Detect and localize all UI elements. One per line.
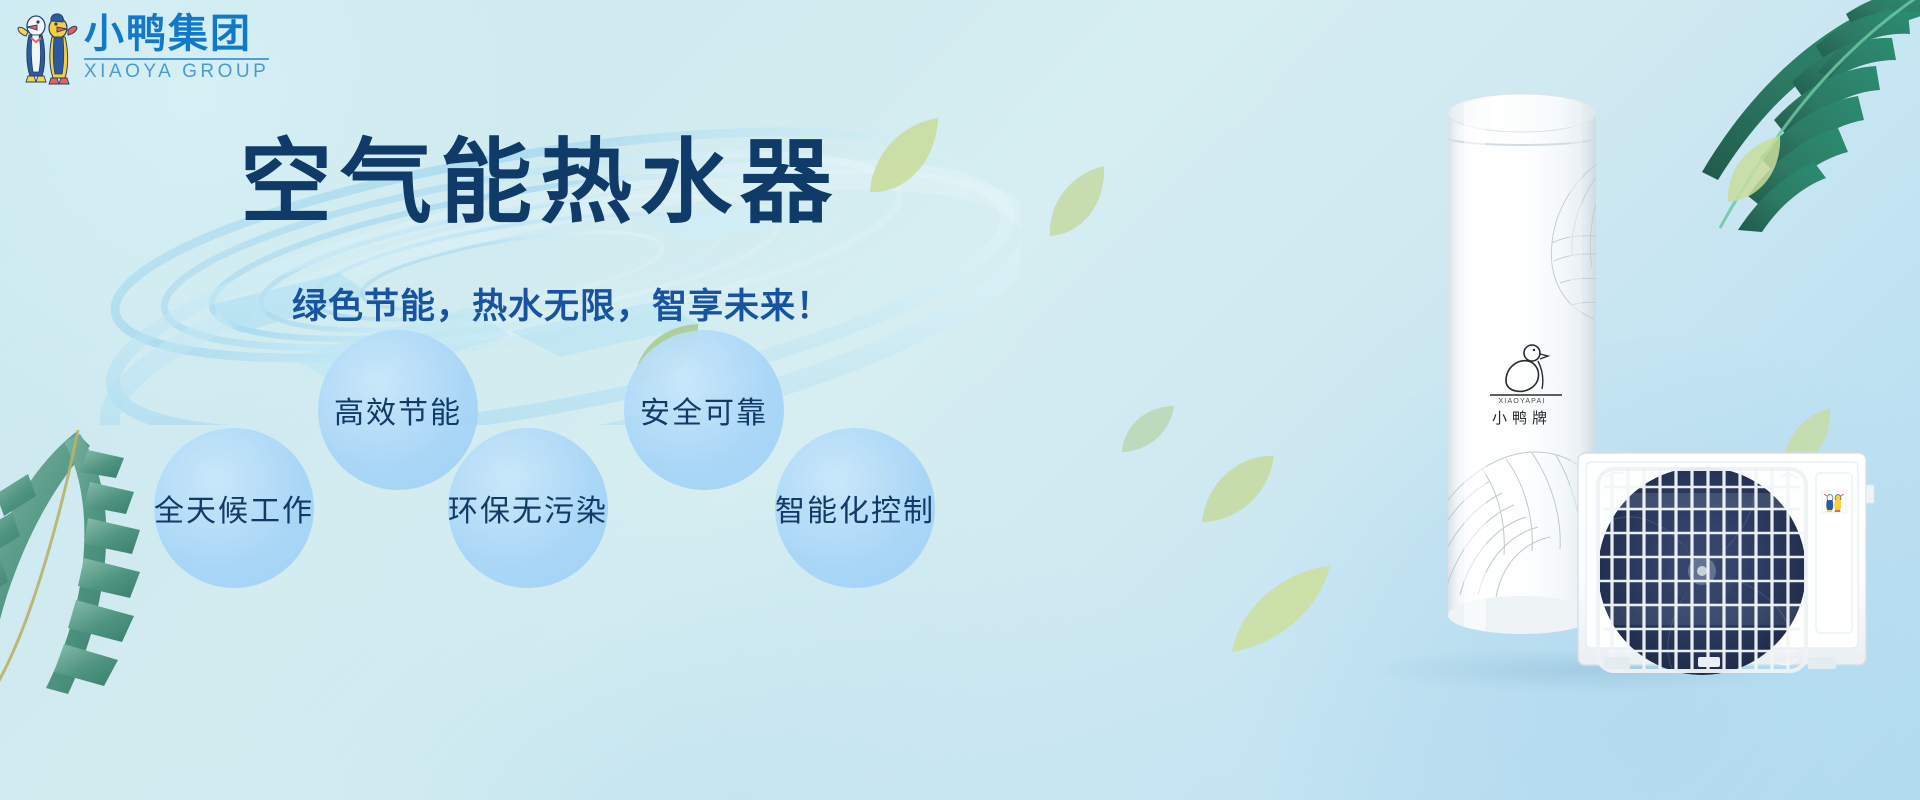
accent-leaf-icon: [1196, 448, 1282, 530]
heat-pump-outdoor-unit-icon: [1578, 453, 1874, 675]
feature-bubble-allweather[interactable]: 全天候工作: [154, 428, 314, 588]
feature-bubble-eco[interactable]: 环保无污染: [448, 428, 608, 588]
feature-label: 智能化控制: [775, 486, 935, 530]
feature-bubble-safe[interactable]: 安全可靠: [624, 330, 784, 490]
feature-label: 环保无污染: [448, 486, 608, 530]
accent-leaf-icon: [860, 108, 950, 208]
product-image: XIAOYAPAI 小鸭牌: [1320, 55, 1880, 715]
accent-leaf-icon: [1042, 160, 1112, 246]
page-title: 空气能热水器: [240, 135, 840, 232]
feature-bubble-smart[interactable]: 智能化控制: [775, 428, 935, 588]
feature-label: 全天候工作: [154, 486, 314, 530]
tank-brand-cn: 小鸭牌: [1492, 410, 1552, 427]
feature-bubble-efficient[interactable]: 高效节能: [318, 330, 478, 490]
two-duck-mascot-icon: [16, 8, 78, 86]
page-subtitle: 绿色节能，热水无限，智享未来！: [292, 278, 832, 329]
logo-english-text: XIAOYA GROUP: [84, 62, 269, 81]
logo-chinese-text: 小鸭集团: [84, 13, 269, 55]
logo-divider: [84, 58, 269, 60]
background-glow-bottom-left: [160, 480, 1260, 800]
brand-logo[interactable]: 小鸭集团 XIAOYA GROUP: [16, 8, 269, 86]
feature-label: 高效节能: [334, 388, 462, 432]
duck-mascot-sticker-icon: [1822, 491, 1846, 513]
tank-brand-en: XIAOYAPAI: [1498, 398, 1545, 405]
feature-label: 安全可靠: [640, 388, 768, 432]
accent-leaf-icon: [1118, 402, 1178, 458]
promo-banner: 小鸭集团 XIAOYA GROUP 空气能热水器 绿色节能，热水无限，智享未来！…: [0, 0, 1920, 800]
